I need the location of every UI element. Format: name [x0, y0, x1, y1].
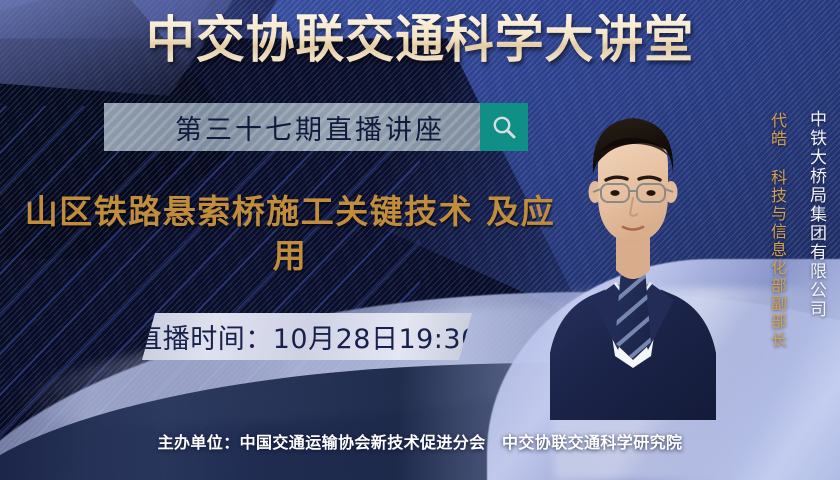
search-icon — [489, 112, 519, 142]
broadcast-time-badge: 直播时间：10月28日19:30 — [142, 313, 472, 360]
episode-banner-body: 第三十七期直播讲座 — [104, 103, 480, 151]
episode-banner: 第三十七期直播讲座 — [104, 103, 528, 151]
speaker-organization: 中铁大桥局集团有限公司 — [806, 110, 826, 319]
speaker-photo — [548, 88, 718, 420]
lecture-promo-poster: 中交协联交通科学大讲堂 第三十七期直播讲座 山区铁路悬索桥施工关键技术 及应用 … — [0, 0, 840, 480]
speaker-name-title: 代皓 科技与信息化部副部长 — [767, 112, 786, 349]
lecture-topic: 山区铁路悬索桥施工关键技术 及应用 — [20, 190, 560, 277]
organizer-footer: 主办单位：中国交通运输协会新技术促进分会 中交协联交通科学研究院 — [0, 429, 840, 453]
broadcast-time-text: 直播时间：10月28日19:30 — [135, 317, 479, 356]
search-button[interactable] — [480, 103, 528, 151]
page-title: 中交协联交通科学大讲堂 — [25, 14, 815, 66]
episode-label: 第三十七期直播讲座 — [139, 108, 445, 147]
